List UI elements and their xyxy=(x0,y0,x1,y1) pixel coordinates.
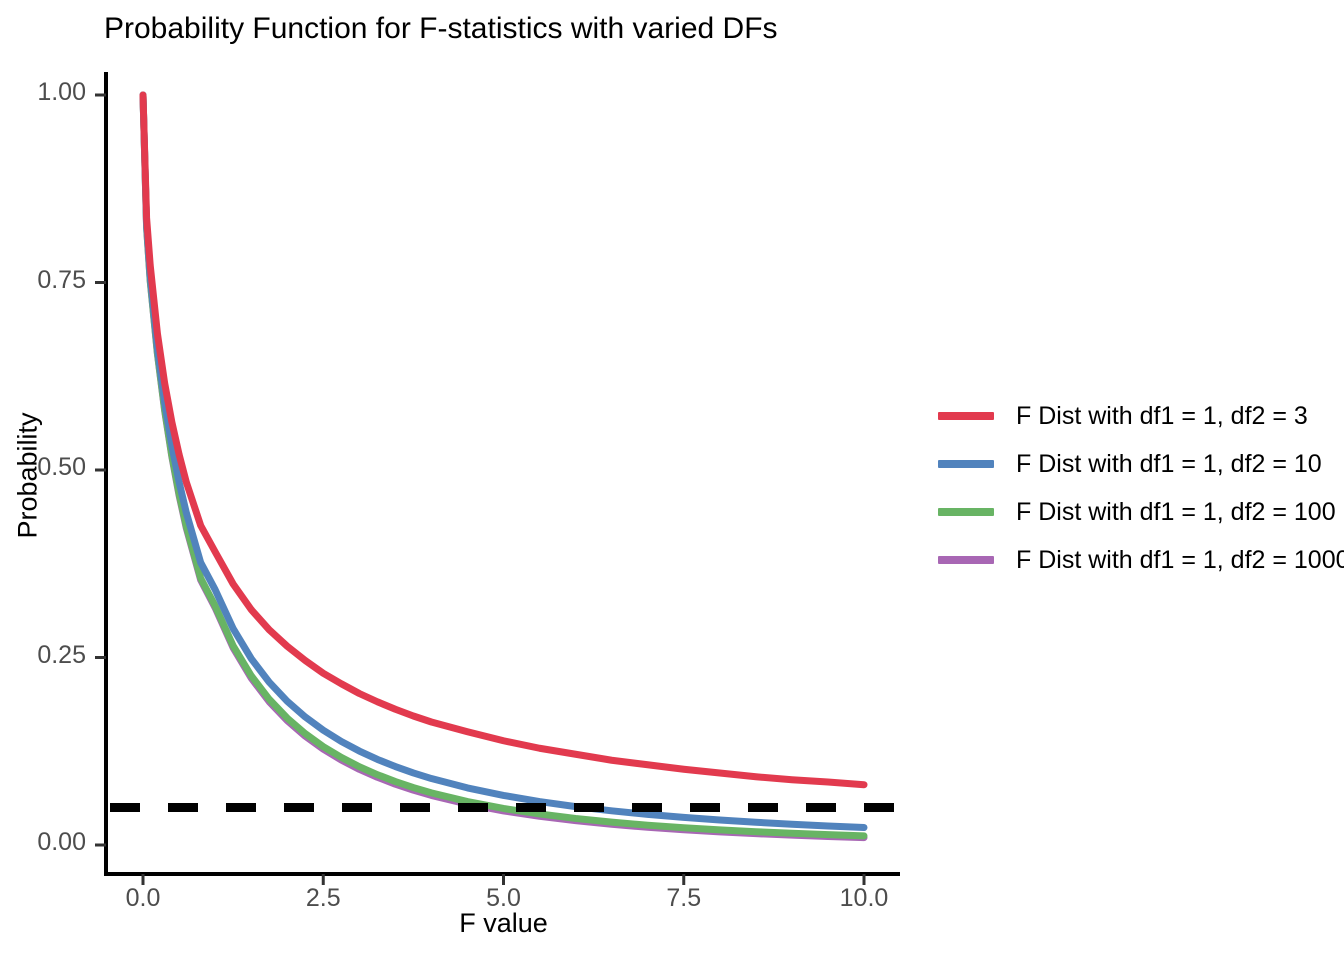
legend-key-icon xyxy=(938,460,994,468)
axis-lines xyxy=(104,72,900,874)
legend-item[interactable]: F Dist with df1 = 1, df2 = 10 xyxy=(930,440,1340,488)
legend-item-label: F Dist with df1 = 1, df2 = 3 xyxy=(1016,402,1308,431)
legend-item-label: F Dist with df1 = 1, df2 = 1000 xyxy=(1016,546,1344,575)
data-series-group xyxy=(143,95,864,838)
legend-item[interactable]: F Dist with df1 = 1, df2 = 1000 xyxy=(930,536,1340,584)
series-line xyxy=(143,95,864,838)
chart-figure: Probability Function for F-statistics wi… xyxy=(0,0,1344,960)
legend-item[interactable]: F Dist with df1 = 1, df2 = 100 xyxy=(930,488,1340,536)
legend-item-label: F Dist with df1 = 1, df2 = 10 xyxy=(1016,450,1322,479)
legend-key-icon xyxy=(938,556,994,564)
chart-legend: F Dist with df1 = 1, df2 = 3 F Dist with… xyxy=(930,392,1340,584)
legend-key-icon xyxy=(938,412,994,420)
legend-key-icon xyxy=(938,508,994,516)
legend-item-label: F Dist with df1 = 1, df2 = 100 xyxy=(1016,498,1336,527)
legend-item[interactable]: F Dist with df1 = 1, df2 = 3 xyxy=(930,392,1340,440)
series-line xyxy=(143,95,864,828)
series-line xyxy=(143,95,864,836)
